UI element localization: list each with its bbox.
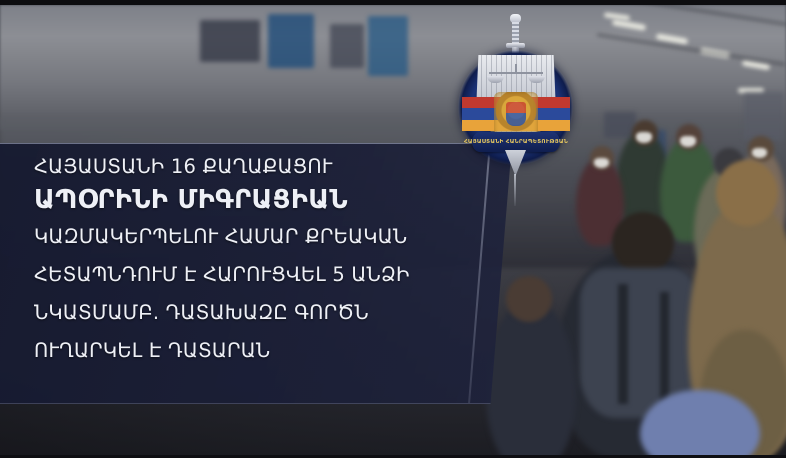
background-display: [368, 16, 408, 76]
background-sign: [744, 92, 784, 140]
face-mask: [636, 132, 652, 143]
caption-line-5: ՆԿԱՏՄԱՄԲ. ԴԱՏԱԽԱԶԸ ԳՈՐԾՆ: [34, 294, 504, 332]
caption-line-3: ԿԱԶՄԱԿԵՐՊԵԼՈՒ ՀԱՄԱՐ ՔՐԵԱԿԱՆ: [34, 218, 504, 256]
caption-line-2-headline: ԱՊՕՐԻՆԻ ՄԻԳՐԱՑԻԱՆ: [34, 182, 504, 218]
emblem-stem: [514, 174, 516, 206]
face-mask: [752, 148, 767, 158]
coat-of-arms-icon: [494, 92, 538, 136]
scales-pan-right: [528, 76, 545, 83]
scales-beam: [489, 72, 543, 74]
caption-line-6: ՈՒՂԱՐԿԵԼ Է ԴԱՏԱՐԱՆ: [34, 332, 504, 370]
face-mask: [594, 158, 609, 168]
letterbox-top-bar: [0, 0, 786, 5]
caption-line-1: ՀԱՅԱՍՏԱՆԻ 16 ՔԱՂԱՔԱՑՈՒ: [34, 152, 504, 182]
caption-line-4: ՀԵՏԱՊՆԴՈՒՄ Է ՀԱՐՈՒՑՎԵԼ 5 ԱՆՁԻ: [34, 256, 504, 294]
face-mask: [680, 136, 696, 147]
emblem-banner-text: ՀԱՅԱՍՏԱՆԻ ՀԱՆՐԱՊԵՏՈՒԹՅԱՆ: [472, 132, 560, 152]
emblem-banner: ՀԱՅԱՍՏԱՆԻ ՀԱՆՐԱՊԵՏՈՒԹՅԱՆ: [472, 132, 560, 152]
backpack-strap: [660, 292, 669, 402]
background-sign: [200, 20, 260, 62]
background-display: [268, 14, 314, 68]
scales-pan-left: [487, 76, 504, 83]
coat-of-arms-shield: [506, 102, 526, 126]
foreground-traveler-head: [716, 160, 778, 226]
sword-grip: [512, 22, 519, 44]
scales-of-justice-icon: [489, 64, 543, 90]
backpack-strap: [618, 284, 628, 404]
video-frame: ՀԱՅԱՍՏԱՆԻ 16 ՔԱՂԱՔԱՑՈՒ ԱՊՕՐԻՆԻ ՄԻԳՐԱՑԻԱՆ…: [0, 0, 786, 458]
foreground-traveler-head: [506, 276, 552, 322]
background-sign: [330, 24, 364, 68]
foreground-traveler-head: [612, 212, 674, 274]
investigative-committee-emblem: ՔՆՆՉԱԿԱՆ ԿՈՄԻՏԵ ՀԱՅԱՍՏԱՆԻ ՀԱՆՐԱՊԵՏՈՒԹՅԱՆ: [447, 14, 584, 174]
caption-text-block: ՀԱՅԱՍՏԱՆԻ 16 ՔԱՂԱՔԱՑՈՒ ԱՊՕՐԻՆԻ ՄԻԳՐԱՑԻԱՆ…: [34, 152, 504, 370]
